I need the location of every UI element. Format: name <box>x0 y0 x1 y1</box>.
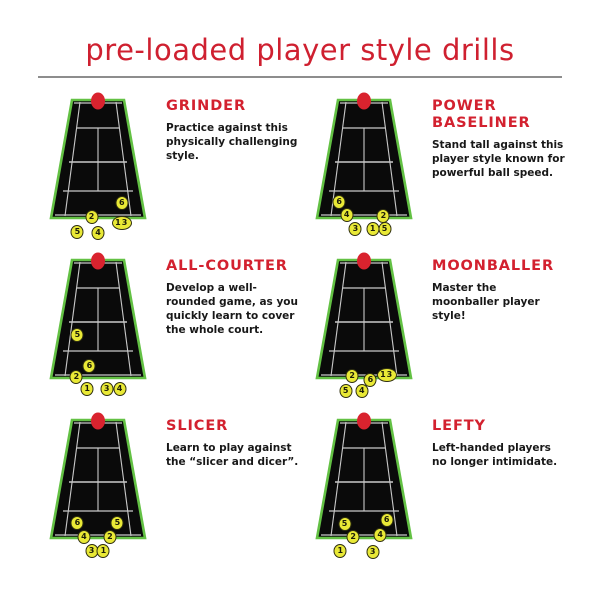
drill-text: SLICERLearn to play against the “slicer … <box>152 412 300 470</box>
ball-marker: 1 <box>97 544 110 558</box>
drill-text: MOONBALLERMaster the moonballer player s… <box>418 252 566 324</box>
court-wrap: 562134 <box>44 252 152 384</box>
red-player-marker <box>357 253 371 270</box>
drill-card[interactable]: 642315 POWER BASELINERStand tall against… <box>310 92 566 252</box>
page-title: pre-loaded player style drills <box>38 36 562 65</box>
ball-marker: 4 <box>113 382 126 396</box>
drill-description: Master the moonballer player style! <box>432 282 566 324</box>
drill-card[interactable]: 562413 LEFTYLeft-handed players no longe… <box>310 412 566 572</box>
ball-marker: 5 <box>71 225 84 239</box>
drill-title: MOONBALLER <box>432 258 566 275</box>
drill-description: Develop a well-rounded game, as you quic… <box>166 282 300 337</box>
red-player-marker <box>91 93 105 110</box>
drill-description: Learn to play against the “slicer and di… <box>166 442 300 470</box>
tennis-court-diagram <box>310 92 418 224</box>
drill-title: SLICER <box>166 418 300 435</box>
ball-marker: 1 <box>334 544 347 558</box>
ball-marker: 4 <box>355 384 368 398</box>
ball-marker: 3 <box>366 545 379 559</box>
court-wrap: 261354 <box>310 252 418 384</box>
ball-marker: 4 <box>92 226 105 240</box>
tennis-court-diagram <box>44 252 152 384</box>
court-wrap: 562413 <box>310 412 418 544</box>
drill-title: ALL-COURTER <box>166 258 300 275</box>
red-player-marker <box>91 253 105 270</box>
ball-marker: 3 <box>349 222 362 236</box>
drill-title: LEFTY <box>432 418 566 435</box>
title-divider <box>38 76 562 78</box>
tennis-court-diagram <box>44 92 152 224</box>
drill-text: LEFTYLeft-handed players no longer intim… <box>418 412 566 470</box>
drill-card[interactable]: 654231 SLICERLearn to play against the “… <box>44 412 300 572</box>
court-wrap: 654231 <box>44 412 152 544</box>
drill-card[interactable]: 562134 ALL-COURTERDevelop a well-rounded… <box>44 252 300 412</box>
drill-card[interactable]: 261354 MOONBALLERMaster the moonballer p… <box>310 252 566 412</box>
drill-text: POWER BASELINERStand tall against this p… <box>418 92 566 181</box>
drill-description: Stand tall against this player style kno… <box>432 139 566 181</box>
ball-marker: 3 <box>85 544 98 558</box>
drill-description: Left-handed players no longer intimidate… <box>432 442 566 470</box>
page-header: pre-loaded player style drills <box>0 0 600 78</box>
tennis-court-diagram <box>44 412 152 544</box>
red-player-marker <box>357 93 371 110</box>
tennis-court-diagram <box>310 252 418 384</box>
ball-marker: 1 <box>366 222 379 236</box>
drill-text: ALL-COURTERDevelop a well-rounded game, … <box>152 252 300 338</box>
drill-text: GRINDERPractice against this physically … <box>152 92 300 164</box>
ball-marker: 3 <box>100 382 113 396</box>
red-player-marker <box>91 413 105 430</box>
drill-card[interactable]: 621354 GRINDERPractice against this phys… <box>44 92 300 252</box>
drill-title: GRINDER <box>166 98 300 115</box>
court-wrap: 642315 <box>310 92 418 224</box>
ball-marker: 1 <box>81 382 94 396</box>
drill-description: Practice against this physically challen… <box>166 122 300 164</box>
ball-marker: 5 <box>378 222 391 236</box>
court-wrap: 621354 <box>44 92 152 224</box>
drill-grid: 621354 GRINDERPractice against this phys… <box>0 92 600 572</box>
drill-title: POWER BASELINER <box>432 98 566 132</box>
ball-marker: 5 <box>339 384 352 398</box>
red-player-marker <box>357 413 371 430</box>
tennis-court-diagram <box>310 412 418 544</box>
